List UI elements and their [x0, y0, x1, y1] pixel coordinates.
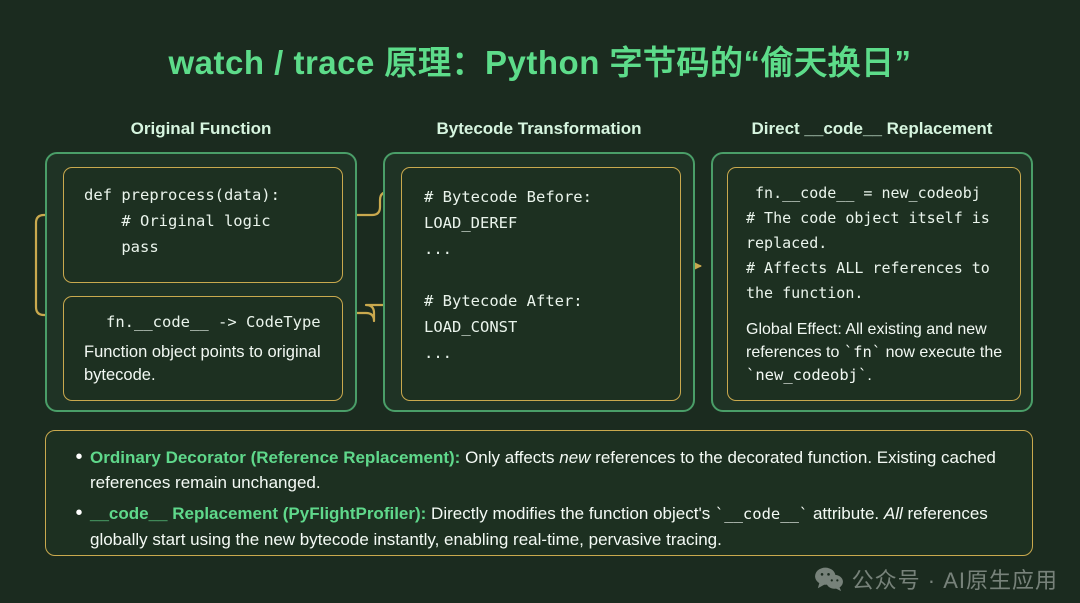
- column-header-bytecode-transformation: Bytecode Transformation: [383, 119, 695, 139]
- list-item: • Ordinary Decorator (Reference Replacem…: [68, 445, 1012, 495]
- note-code-replacement: __code__ Replacement (PyFlightProfiler):…: [90, 501, 1012, 552]
- code-text-preprocess: def preprocess(data): # Original logic p…: [84, 182, 342, 260]
- code-box-bytecode-before-after: # Bytecode Before: LOAD_DEREF ... # Byte…: [401, 167, 681, 401]
- page-title: watch / trace 原理：Python 字节码的“偷天换日”: [0, 36, 1080, 84]
- watermark-text: 公众号 · AI原生应用: [852, 563, 1058, 595]
- prose-function-object-points: Function object points to original bytec…: [84, 341, 342, 387]
- list-item: • __code__ Replacement (PyFlightProfiler…: [68, 501, 1012, 552]
- card-direct-code-replacement: fn.__code__ = new_codeobj # The code obj…: [711, 152, 1033, 412]
- column-header-original-function: Original Function: [45, 119, 357, 139]
- code-text-bytecode-before-after: # Bytecode Before: LOAD_DEREF ... # Byte…: [424, 184, 680, 366]
- watermark: 公众号 · AI原生应用: [814, 563, 1058, 595]
- code-box-new-codeobj: fn.__code__ = new_codeobj # The code obj…: [727, 167, 1021, 401]
- code-text-new-codeobj: fn.__code__ = new_codeobj # The code obj…: [746, 181, 1020, 306]
- wechat-icon: [814, 566, 844, 592]
- slide-root: watch / trace 原理：Python 字节码的“偷天换日” Origi…: [0, 0, 1080, 603]
- card-bytecode-transformation: # Bytecode Before: LOAD_DEREF ... # Byte…: [383, 152, 695, 412]
- prose-global-effect: Global Effect: All existing and new refe…: [746, 318, 1020, 387]
- summary-panel: • Ordinary Decorator (Reference Replacem…: [45, 430, 1033, 556]
- bullet-icon: •: [68, 501, 90, 526]
- card-original-function: def preprocess(data): # Original logic p…: [45, 152, 357, 412]
- bullet-icon: •: [68, 445, 90, 470]
- column-header-direct-code-replacement: Direct __code__ Replacement: [711, 119, 1033, 139]
- code-box-fn-code-codetype: fn.__code__ -> CodeType Function object …: [63, 296, 343, 401]
- code-box-preprocess: def preprocess(data): # Original logic p…: [63, 167, 343, 283]
- code-text-fn-code-codetype: fn.__code__ -> CodeType: [84, 309, 342, 335]
- note-ordinary-decorator: Ordinary Decorator (Reference Replacemen…: [90, 445, 1012, 495]
